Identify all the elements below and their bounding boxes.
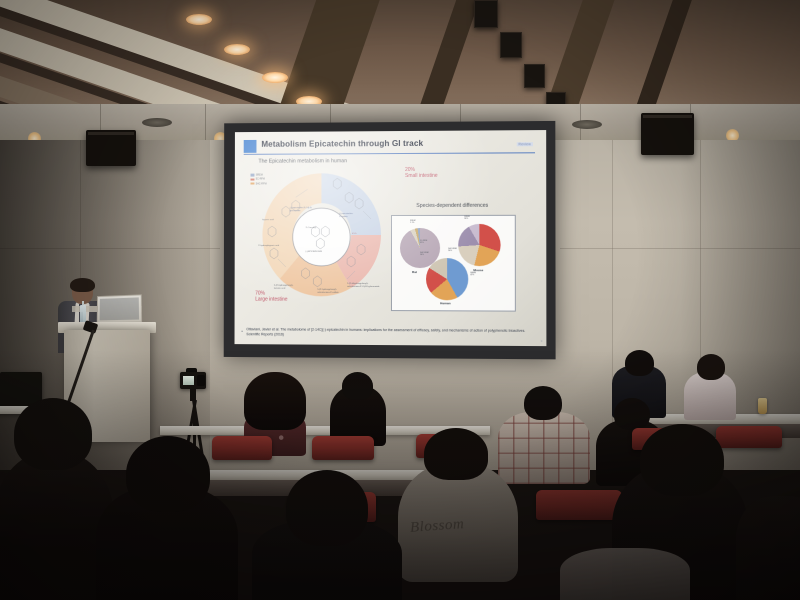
small-intestine-annotation: 20% Small intestine: [405, 167, 438, 180]
pie-chart-mouse: [458, 224, 500, 266]
audience-head: [342, 372, 373, 400]
ceiling-speaker: [524, 64, 545, 88]
audience-head: [697, 354, 725, 380]
legend-swatch-5c-rfm: [251, 178, 255, 181]
species-pie-panel: Rat SREM1.1% 5C-RFM92% Mouse SREM30% 5HC…: [391, 215, 516, 312]
slide-citation: •Ottaviani, Javier et al. The metabolome…: [246, 327, 536, 339]
wall-speaker-left: [86, 130, 136, 166]
audience-head: [640, 424, 724, 496]
chair-back: [312, 436, 374, 460]
chair-mid: [536, 490, 622, 520]
presenter-laptop: [97, 294, 142, 323]
audience-head: [625, 350, 654, 376]
camera-lcd-screen: [183, 376, 194, 385]
legend-swatch-srem: [251, 174, 255, 177]
slide-subtitle: The Epicatechin metabolism in human: [258, 158, 347, 164]
wall-speaker-right: [641, 113, 694, 155]
lecture-hall-photo: Metabolism Epicatechin through GI track …: [0, 0, 800, 600]
ceiling-downlight: [186, 14, 212, 25]
slide-page-number: 9: [541, 340, 542, 343]
audience-head: [524, 386, 562, 420]
audience-head: [126, 436, 210, 512]
chair-back: [212, 436, 272, 460]
ceiling-vent: [572, 120, 602, 129]
ceiling-vent: [142, 118, 172, 127]
ceiling-speaker: [500, 32, 522, 58]
pie-label-rat: Rat: [412, 270, 417, 274]
audience-long-hair: [244, 372, 306, 430]
audience-head: [424, 428, 488, 480]
ceiling-speaker: [474, 0, 498, 28]
title-underline: [244, 152, 535, 155]
chair-back: [716, 426, 782, 448]
slide-title: Metabolism Epicatechin through GI track: [261, 139, 423, 149]
audience-member-white-sleeve: [560, 548, 690, 600]
ceiling-downlight: [224, 44, 250, 55]
audience-head: [614, 398, 650, 430]
pie-section-title: Species-dependent differences: [391, 203, 514, 209]
audience-head: [14, 398, 92, 470]
title-bullet-square: [244, 140, 257, 153]
ceiling-downlight: [262, 72, 288, 83]
presenter-hair: [70, 278, 95, 292]
slide-title-row: Metabolism Epicatechin through GI track …: [244, 138, 537, 155]
legend-swatch-5hc-rfm: [251, 182, 255, 185]
audience-head: [286, 470, 368, 546]
audience-member-plaid: [498, 412, 590, 484]
ceiling: [0, 0, 800, 118]
pie-chart-human: [426, 258, 468, 300]
presentation-slide: Metabolism Epicatechin through GI track …: [235, 130, 547, 346]
pie-label-human: Human: [440, 301, 451, 305]
projection-screen: Metabolism Epicatechin through GI track …: [224, 121, 556, 359]
slide-surface: Metabolism Epicatechin through GI track …: [235, 130, 547, 346]
audience-member-front-far-right: [736, 496, 800, 600]
amber-bottle: [758, 398, 767, 414]
slide-corner-tag: Review: [516, 142, 533, 146]
metabolism-pathway-diagram: (-)-epicatechin-3'-O-β-D-glucuronide (-)…: [256, 167, 387, 303]
large-intestine-annotation: 70% Large intestine: [255, 291, 287, 304]
camera-lens: [197, 375, 205, 386]
